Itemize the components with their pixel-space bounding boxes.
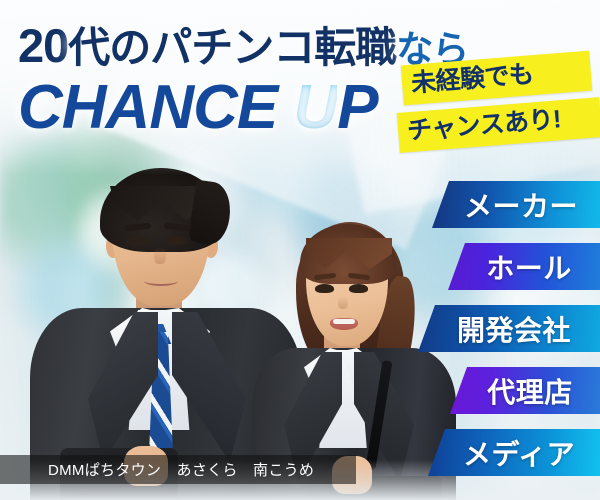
category-banner-hall[interactable]: ホール (448, 243, 600, 290)
logo-letter-u: U (293, 73, 337, 142)
woman-nose (338, 296, 348, 309)
logo-letter-p: P (337, 73, 377, 142)
headline-main: 代のパチンコ転職 (68, 24, 396, 71)
category-label: ホール (476, 247, 572, 287)
credit-bar: DMMぱちタウン あさくら 南こうめ (0, 455, 356, 484)
advertisement-banner[interactable]: 20代のパチンコ転職なら CHANCE UP 未経験でも チャンスあり! メーカ… (0, 0, 600, 500)
woman-teeth (333, 319, 355, 324)
credit-text: DMMぱちタウン あさくら 南こうめ (0, 459, 314, 480)
man-mouth (144, 276, 178, 286)
woman-eye-left (315, 284, 334, 293)
man-hair-side (188, 180, 234, 247)
category-label: メーカー (454, 185, 578, 225)
headline-number: 20 (18, 19, 68, 72)
man-eye-right (166, 236, 188, 245)
category-banner-maker[interactable]: メーカー (432, 181, 600, 228)
category-banner-development-company[interactable]: 開発会社 (418, 305, 600, 352)
chance-up-logo: CHANCE UP (18, 72, 378, 143)
category-label: 代理店 (477, 371, 573, 411)
category-banner-agency[interactable]: 代理店 (450, 367, 600, 414)
category-banner-list: メーカー ホール 開発会社 代理店 メディア (390, 0, 600, 500)
logo-word-chance: CHANCE (18, 73, 277, 142)
man-eye-left (126, 236, 148, 245)
category-label: メディア (453, 433, 575, 473)
man-nose (154, 248, 166, 264)
category-label: 開発会社 (447, 309, 571, 349)
woman-eye-right (349, 284, 368, 293)
category-banner-media[interactable]: メディア (428, 429, 600, 476)
